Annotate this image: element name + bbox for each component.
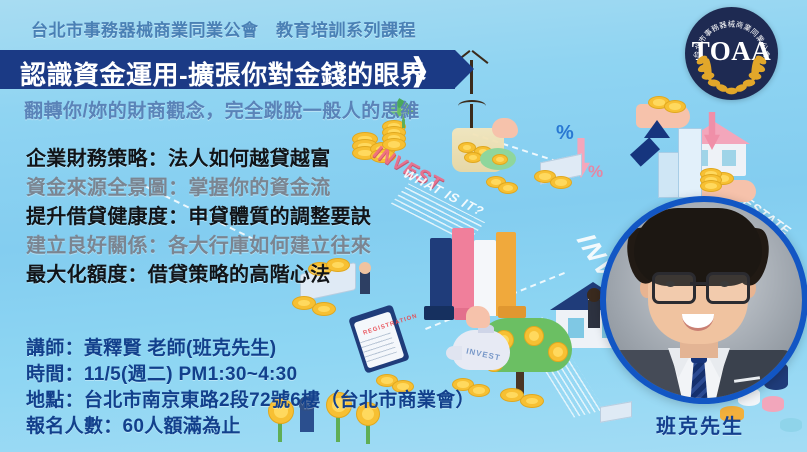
invest-label-1: INVEST xyxy=(367,143,447,195)
coin-icon xyxy=(648,96,670,109)
speaker-caption: 班克先生 xyxy=(645,410,755,439)
coin-icon xyxy=(458,142,476,153)
chart-bar-icon xyxy=(474,240,496,316)
coin-icon xyxy=(548,342,568,362)
coin-disc-icon xyxy=(480,148,516,170)
toaa-logo: 台北市事務器械商業同業公會 TOAA xyxy=(685,7,778,100)
coin-jar-icon xyxy=(452,128,504,172)
placeholder-text-lines xyxy=(391,183,485,242)
dash-connector-icon xyxy=(425,272,565,330)
coin-icon xyxy=(534,170,556,183)
list-item: 最大化額度：借貸策略的高階心法 xyxy=(26,261,371,290)
growth-arrow-head-icon xyxy=(644,120,670,138)
person-head-icon xyxy=(587,288,601,302)
clipboard-header-text: REGISTRATION xyxy=(362,313,418,336)
page-title: 認識資金運用-擴張你對金錢的眼界 xyxy=(20,55,427,92)
poster-canvas: INVEST WHAT IS IT? INVESTMENT xyxy=(0,0,807,452)
info-lecturer: 講師：黃釋賢 老師(班克先生) xyxy=(26,336,475,362)
glasses-lens-left xyxy=(652,272,696,304)
banknote-icon xyxy=(600,401,632,423)
chart-bar-icon xyxy=(430,238,452,316)
percent-label-2: % xyxy=(588,162,604,182)
coin-icon xyxy=(486,176,506,188)
glasses-lens-right xyxy=(706,272,750,304)
coin-icon xyxy=(474,146,492,157)
coin-icon xyxy=(524,326,544,346)
hand-icon xyxy=(466,306,490,328)
chart-bar-icon xyxy=(452,228,474,316)
tree-trunk-icon xyxy=(470,104,473,128)
tree-trunk-icon xyxy=(516,360,524,394)
chart-base-icon xyxy=(454,308,482,320)
coin-icon xyxy=(498,182,518,194)
subtitle: 翻轉你/妳的財商觀念，完全跳脫一般人的思維 xyxy=(24,96,420,123)
coin-icon xyxy=(500,388,524,402)
coin-icon xyxy=(520,394,544,408)
building-icon xyxy=(678,128,702,198)
person-icon xyxy=(588,300,600,328)
growth-arrow-icon xyxy=(630,137,660,166)
down-arrow-icon xyxy=(572,138,590,178)
coin-icon xyxy=(712,172,734,185)
down-arrow-icon xyxy=(704,112,720,150)
piggy-ear-icon xyxy=(478,324,494,333)
cylinder-icon xyxy=(762,396,784,412)
list-item: 企業財務策略：法人如何越貸越富 xyxy=(26,145,371,174)
tree-branch-icon xyxy=(472,50,489,64)
coin-icon xyxy=(484,352,504,372)
coin-icon xyxy=(292,296,316,310)
percent-label-1: % xyxy=(556,122,575,145)
coin-icon xyxy=(550,176,572,189)
coin-icon xyxy=(464,152,482,163)
laurel-wreath-icon xyxy=(685,7,778,100)
chevron-right-icon: ❯ xyxy=(410,52,430,87)
chart-bar-icon xyxy=(496,232,516,316)
cylinder-icon xyxy=(780,418,802,432)
organization-line: 台北市事務器械商業同業公會 教育培訓系列課程 xyxy=(31,16,416,41)
info-capacity: 報名人數：60人額滿為止 xyxy=(26,414,475,440)
banknote-icon xyxy=(540,154,582,185)
glasses-bridge xyxy=(690,282,706,285)
chart-base-icon xyxy=(424,306,454,320)
speaker-avatar xyxy=(600,196,807,404)
coin-icon xyxy=(494,330,514,350)
coin-icon xyxy=(492,154,508,165)
tree-branch-icon xyxy=(458,100,486,112)
placeholder-text-lines xyxy=(516,317,605,418)
dash-connector-icon xyxy=(472,133,577,169)
list-item: 提升借貸健康度：申貸體質的調整要訣 xyxy=(26,203,371,232)
chart-base-icon xyxy=(498,306,526,318)
list-item: 資金來源全景圖：掌握你的資金流 xyxy=(26,174,371,203)
list-item: 建立良好關係：各大行庫如何建立往來 xyxy=(26,232,371,261)
event-info-block: 講師：黃釋賢 老師(班克先生) 時間：11/5(週二) PM1:30~4:30 … xyxy=(26,336,475,440)
coin-icon xyxy=(312,302,336,316)
what-is-it-label: WHAT IS IT? xyxy=(400,167,489,219)
hand-icon xyxy=(492,118,518,138)
tree-foliage-icon xyxy=(476,318,572,372)
building-icon xyxy=(658,152,680,198)
coin-icon xyxy=(664,100,686,113)
info-location: 地點：台北市南京東路2段72號6樓（台北市商業會） xyxy=(26,388,475,414)
hand-icon xyxy=(636,104,690,128)
info-time: 時間：11/5(週二) PM1:30~4:30 xyxy=(26,362,475,388)
title-band: 認識資金運用-擴張你對金錢的眼界 ❯ xyxy=(0,50,455,89)
course-topic-list: 企業財務策略：法人如何越貸越富 資金來源全景圖：掌握你的資金流 提升借貸健康度：… xyxy=(26,145,371,290)
